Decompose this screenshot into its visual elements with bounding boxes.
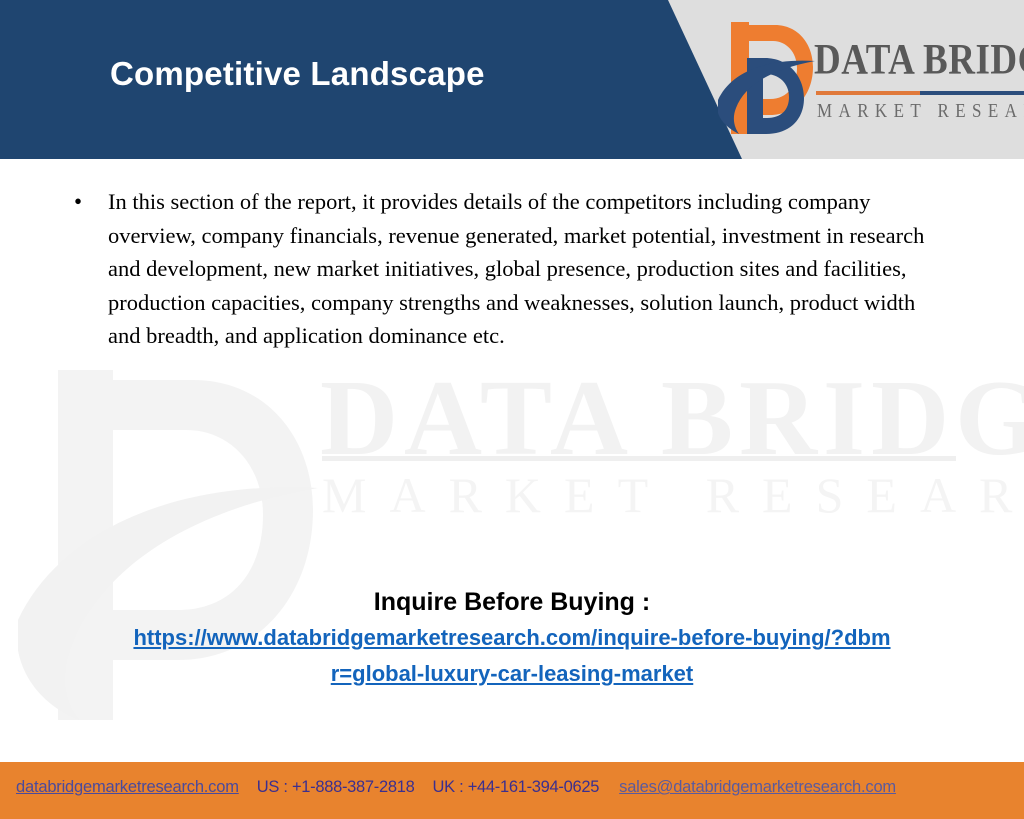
inquire-heading: Inquire Before Buying : <box>0 584 1024 620</box>
brand-wordmark: DATA BRIDGE <box>814 38 1024 82</box>
inquire-before-buying-block: Inquire Before Buying : https://www.data… <box>0 584 1024 692</box>
brand-tagline: MARKET RESEARCH <box>817 101 1024 121</box>
footer-contact-bar: databridgemarketresearch.com US : +1-888… <box>0 778 1024 797</box>
inquire-before-buying-link[interactable]: https://www.databridgemarketresearch.com… <box>0 620 1024 692</box>
brand-mark-icon <box>718 22 816 134</box>
footer-phone-us: US : +1-888-387-2818 <box>257 778 415 797</box>
slide-footer: databridgemarketresearch.com US : +1-888… <box>0 762 1024 819</box>
page-title: Competitive Landscape <box>110 55 485 93</box>
bullet-marker-icon: • <box>68 185 108 219</box>
bullet-paragraph: In this section of the report, it provid… <box>108 185 948 353</box>
slide-body: • In this section of the report, it prov… <box>0 159 1024 762</box>
footer-website-link[interactable]: databridgemarketresearch.com <box>16 778 239 797</box>
bullet-list-item: • In this section of the report, it prov… <box>68 185 948 353</box>
brand-logo: DATA BRIDGE MARKET RESEARCH <box>718 18 1016 140</box>
footer-email-link[interactable]: sales@databridgemarketresearch.com <box>619 778 896 797</box>
footer-phone-uk: UK : +44-161-394-0625 <box>433 778 600 797</box>
brand-divider <box>816 91 1024 95</box>
